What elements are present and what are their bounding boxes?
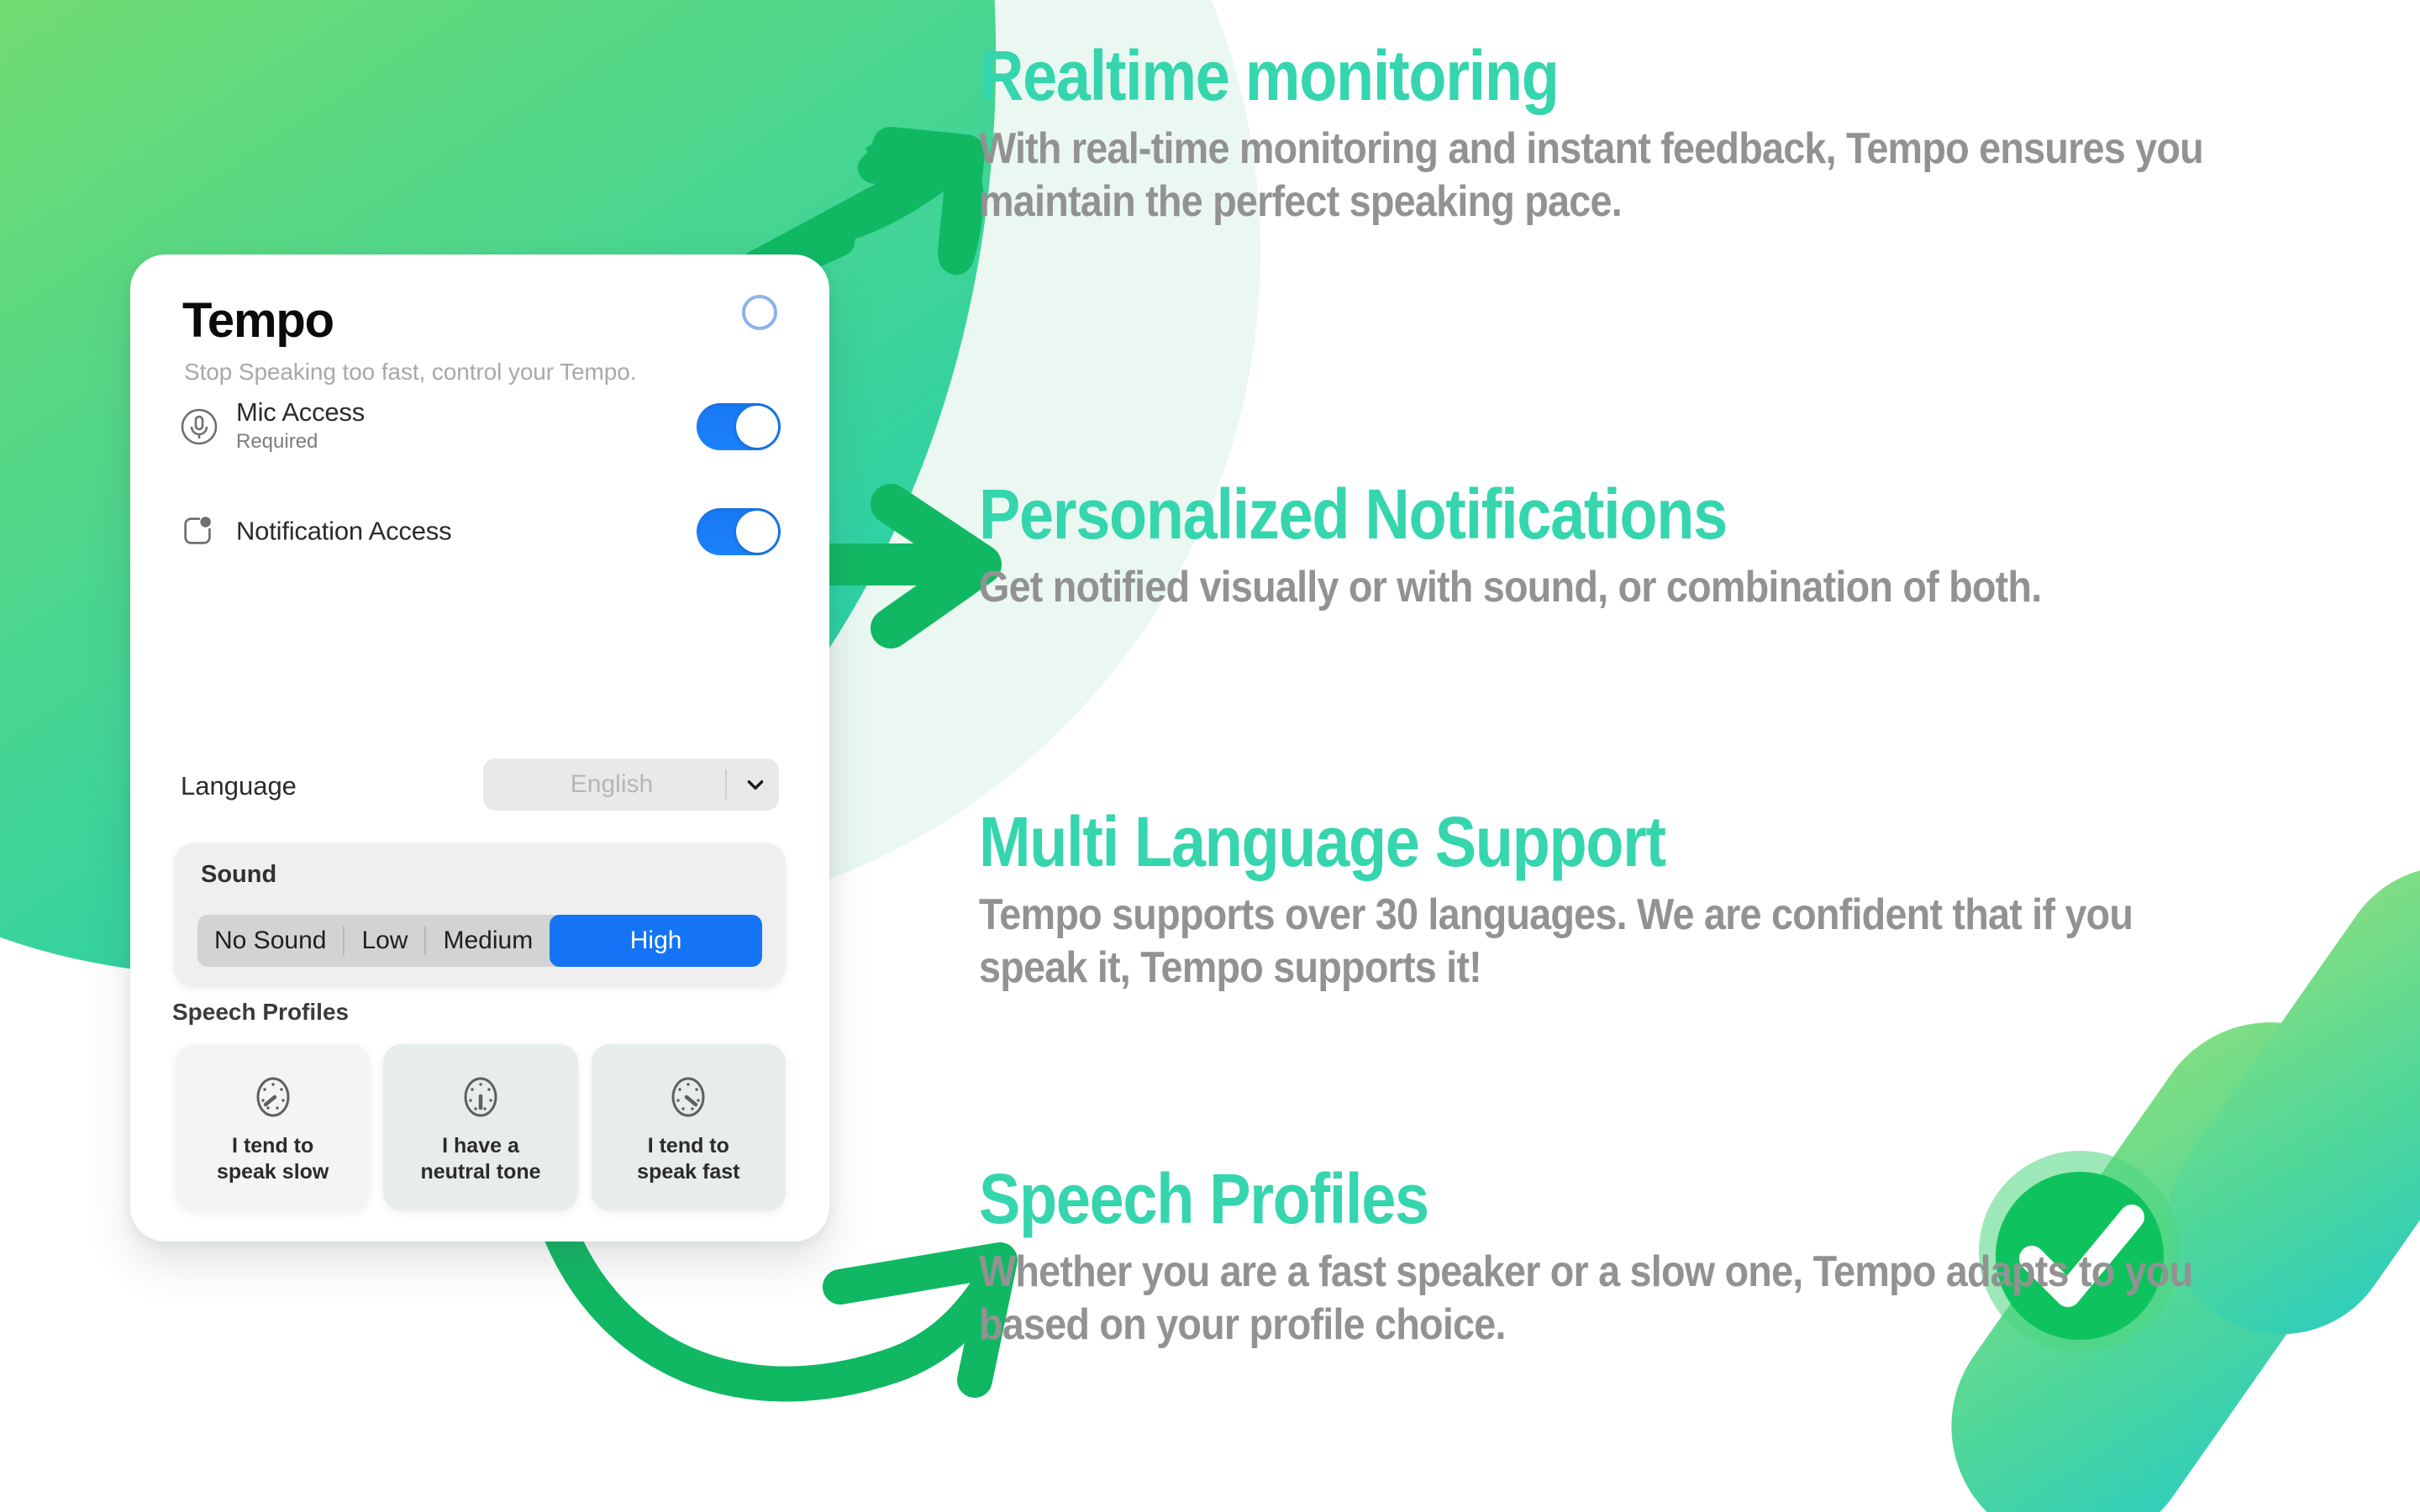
- mic-access-toggle[interactable]: [697, 403, 781, 450]
- speech-profile-slow[interactable]: I tend to speak slow: [176, 1044, 370, 1210]
- feature-personalized-notifications: Personalized Notifications Get notified …: [979, 479, 2391, 614]
- permission-row-mic-access[interactable]: Mic Access Required: [179, 397, 781, 456]
- feature-body: Tempo supports over 30 languages. We are…: [979, 889, 2159, 995]
- toggle-knob: [736, 511, 778, 553]
- speech-profile-line2: neutral tone: [420, 1160, 540, 1184]
- gauge-neutral-icon: [462, 1075, 499, 1123]
- feature-heading: Speech Profiles: [979, 1163, 2221, 1234]
- notification-bell-icon: [179, 512, 219, 552]
- segment-no-sound[interactable]: No Sound: [197, 915, 343, 967]
- sound-segmented-control[interactable]: No Sound Low Medium High: [197, 915, 762, 967]
- language-select[interactable]: English: [483, 759, 779, 811]
- page-subtitle: Stop Speaking too fast, control your Tem…: [184, 359, 636, 386]
- feature-realtime-monitoring: Realtime monitoring With real-time monit…: [979, 40, 2391, 229]
- feature-body: Whether you are a fast speaker or a slow…: [979, 1246, 2219, 1352]
- sound-panel: Sound No Sound Low Medium High: [174, 843, 786, 987]
- divider: [725, 769, 727, 800]
- speech-profile-line1: I have a: [442, 1134, 519, 1158]
- permission-row-notification-access[interactable]: Notification Access: [179, 502, 781, 561]
- permission-sublabel: Required: [236, 428, 365, 454]
- permission-label: Notification Access: [236, 518, 451, 546]
- feature-heading: Realtime monitoring: [979, 40, 2221, 111]
- feature-body: Get notified visually or with sound, or …: [979, 561, 2204, 614]
- speech-profile-line1: I tend to: [648, 1134, 729, 1158]
- microphone-icon: [179, 407, 219, 447]
- speech-profile-fast[interactable]: I tend to speak fast: [592, 1044, 786, 1210]
- toggle-knob: [736, 406, 778, 448]
- status-circle-icon[interactable]: [742, 295, 777, 330]
- gauge-slow-icon: [255, 1075, 292, 1123]
- feature-body: With real-time monitoring and instant fe…: [979, 123, 2204, 229]
- segment-medium[interactable]: Medium: [426, 915, 550, 967]
- chevron-down-icon: [742, 774, 779, 795]
- speech-profile-line2: speak slow: [217, 1160, 329, 1184]
- feature-multi-language-support: Multi Language Support Tempo supports ov…: [979, 806, 2391, 995]
- page-title: Tempo: [182, 292, 334, 349]
- sound-label: Sound: [201, 861, 276, 889]
- segment-high[interactable]: High: [550, 915, 762, 967]
- feature-list: Realtime monitoring With real-time monit…: [979, 0, 2391, 1512]
- speech-profile-line2: speak fast: [637, 1160, 739, 1184]
- speech-profiles-label: Speech Profiles: [172, 999, 349, 1026]
- speech-profile-line1: I tend to: [232, 1134, 313, 1158]
- language-label: Language: [181, 771, 297, 801]
- segment-low[interactable]: Low: [345, 915, 424, 967]
- feature-speech-profiles: Speech Profiles Whether you are a fast s…: [979, 1163, 2391, 1352]
- speech-profile-neutral[interactable]: I have a neutral tone: [383, 1044, 577, 1210]
- gauge-fast-icon: [670, 1075, 707, 1123]
- notification-access-toggle[interactable]: [697, 508, 781, 555]
- feature-heading: Multi Language Support: [979, 806, 2221, 877]
- feature-heading: Personalized Notifications: [979, 479, 2221, 549]
- tempo-settings-card: Tempo Stop Speaking too fast, control yo…: [130, 255, 829, 1242]
- speech-profiles-row: I tend to speak slow: [176, 1044, 786, 1210]
- language-value: English: [483, 770, 725, 799]
- permission-label: Mic Access: [236, 399, 365, 427]
